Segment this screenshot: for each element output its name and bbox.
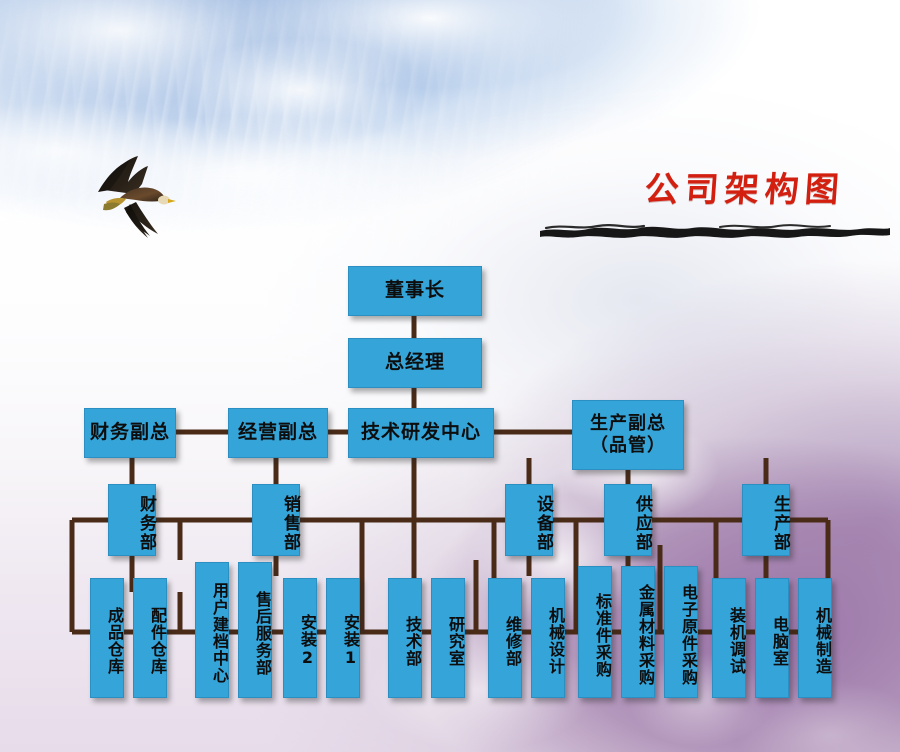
- node-finance-dept[interactable]: 财务部: [108, 484, 156, 556]
- node-production-vp-line2: （品管）: [590, 435, 666, 457]
- node-finished-goods-warehouse[interactable]: 成品仓库: [90, 578, 124, 698]
- node-supply-dept[interactable]: 供应部: [604, 484, 652, 556]
- node-production-dept[interactable]: 生产部: [742, 484, 790, 556]
- node-after-sales-dept[interactable]: 售后服务部: [238, 562, 272, 698]
- node-production-vp[interactable]: 生产副总 （品管）: [572, 400, 684, 470]
- node-chairman[interactable]: 董事长: [348, 266, 482, 316]
- node-research-lab[interactable]: 研究室: [431, 578, 465, 698]
- node-sales-dept[interactable]: 销售部: [252, 484, 300, 556]
- org-chart-poster: 公司架构图: [0, 0, 900, 752]
- node-rnd-center[interactable]: 技术研发中心: [348, 408, 494, 458]
- node-finance-vp[interactable]: 财务副总: [84, 408, 176, 458]
- node-installation-2[interactable]: 安装2: [283, 578, 317, 698]
- node-equipment-dept[interactable]: 设备部: [505, 484, 553, 556]
- node-customer-filing-center[interactable]: 用户建档中心: [195, 562, 229, 698]
- node-production-vp-line1: 生产副总: [590, 413, 666, 435]
- node-technical-dept[interactable]: 技术部: [388, 578, 422, 698]
- node-standard-parts-purchasing[interactable]: 标准件采购: [578, 566, 612, 698]
- node-computer-room[interactable]: 电脑室: [755, 578, 789, 698]
- node-general-manager[interactable]: 总经理: [348, 338, 482, 388]
- node-electronic-parts-purchasing[interactable]: 电子原件采购: [664, 566, 698, 698]
- node-mechanical-design[interactable]: 机械设计: [531, 578, 565, 698]
- node-parts-warehouse[interactable]: 配件仓库: [133, 578, 167, 698]
- node-installation-1[interactable]: 安装1: [326, 578, 360, 698]
- organization-chart: 董事长 总经理 财务副总 经营副总 技术研发中心 生产副总 （品管） 财务部 销…: [0, 0, 900, 752]
- node-operations-vp[interactable]: 经营副总: [228, 408, 328, 458]
- node-assembly-debugging[interactable]: 装机调试: [712, 578, 746, 698]
- node-metal-material-purchasing[interactable]: 金属材料采购: [621, 566, 655, 698]
- node-mechanical-manufacturing[interactable]: 机械制造: [798, 578, 832, 698]
- node-maintenance-dept[interactable]: 维修部: [488, 578, 522, 698]
